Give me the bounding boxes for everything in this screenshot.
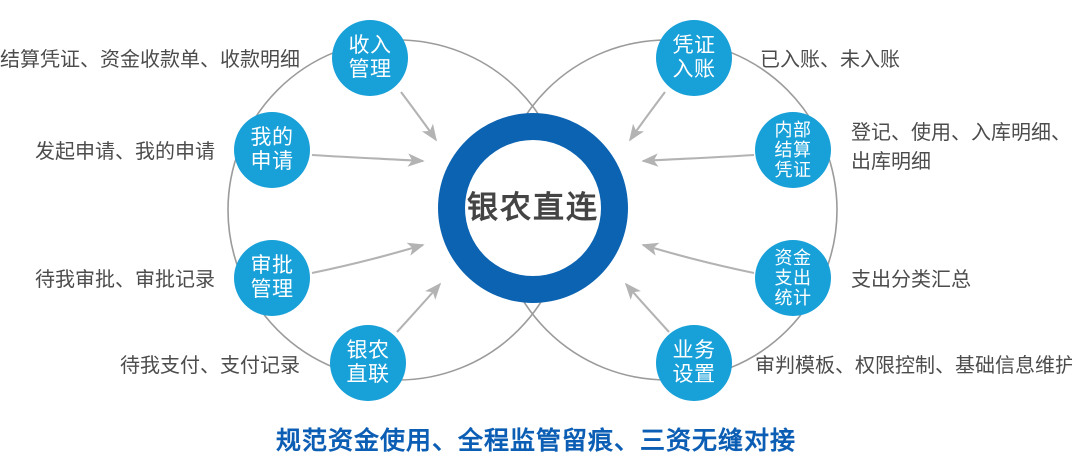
arrow-voucher-entry [630,92,665,140]
caption-business-settings: 审判模板、权限控制、基础信息维护 [755,352,1072,381]
node-label-line: 资金 [775,248,812,268]
node-label-line: 管理 [251,278,294,302]
node-label-line: 支出 [775,268,812,288]
arrow-internal-settlement-voucher [643,155,754,161]
caption-approval-management: 待我审批、审批记录 [10,266,215,295]
hub-center: 银农直连 [465,140,601,276]
footer-slogan: 规范资金使用、全程监管留痕、三资无缝对接 [0,421,1072,457]
node-label-line: 设置 [673,363,716,387]
node-label-line: 结算 [775,140,812,160]
hub-label-line-1: 银农直连 [467,189,599,228]
arrow-income-management [401,92,436,140]
node-label-line: 入账 [673,58,716,82]
node-label-line: 直联 [347,363,390,387]
arrow-fund-expenditure-statistics [643,245,754,273]
node-approval-management[interactable]: 审批 管理 [234,240,310,316]
node-voucher-entry[interactable]: 凭证 入账 [656,20,732,96]
node-business-settings[interactable]: 业务 设置 [656,325,732,401]
node-label-line: 业务 [673,339,716,363]
caption-income-management: 结算凭证、资金收款单、收款明细 [0,46,300,75]
caption-fund-expenditure-statistics: 支出分类汇总 [851,266,1071,295]
node-my-application[interactable]: 我的 申请 [234,112,310,188]
node-label-line: 我的 [251,126,294,150]
node-label-line: 收入 [349,34,392,58]
node-fund-expenditure-statistics[interactable]: 资金 支出 统计 [755,240,831,316]
arrow-my-application [312,155,423,161]
caption-bank-farmer-direct: 待我支付、支付记录 [85,352,300,381]
arrow-bank-farmer-direct [397,284,440,332]
caption-internal-settlement-voucher: 登记、使用、入库明细、 出库明细 [851,119,1072,177]
node-label-line: 银农 [347,339,390,363]
caption-my-application: 发起申请、我的申请 [10,138,215,167]
node-label-line: 申请 [251,150,294,174]
node-label-line: 管理 [349,58,392,82]
caption-voucher-entry: 已入账、未入账 [760,46,1060,75]
node-label-line: 凭证 [775,160,812,180]
hub-ring: 银农直连 [438,113,628,303]
node-bank-farmer-direct[interactable]: 银农 直联 [330,325,406,401]
node-label-line: 审批 [251,254,294,278]
node-label-line: 统计 [775,288,812,308]
arrow-business-settings [626,284,669,332]
arrow-approval-management [312,245,423,273]
node-internal-settlement-voucher[interactable]: 内部 结算 凭证 [755,112,831,188]
node-income-management[interactable]: 收入 管理 [332,20,408,96]
node-label-line: 内部 [775,120,812,140]
node-label-line: 凭证 [673,34,716,58]
diagram-canvas: 银农直连 收入 管理 结算凭证、资金收款单、收款明细 我的 申请 发起申请、我的… [0,0,1072,471]
